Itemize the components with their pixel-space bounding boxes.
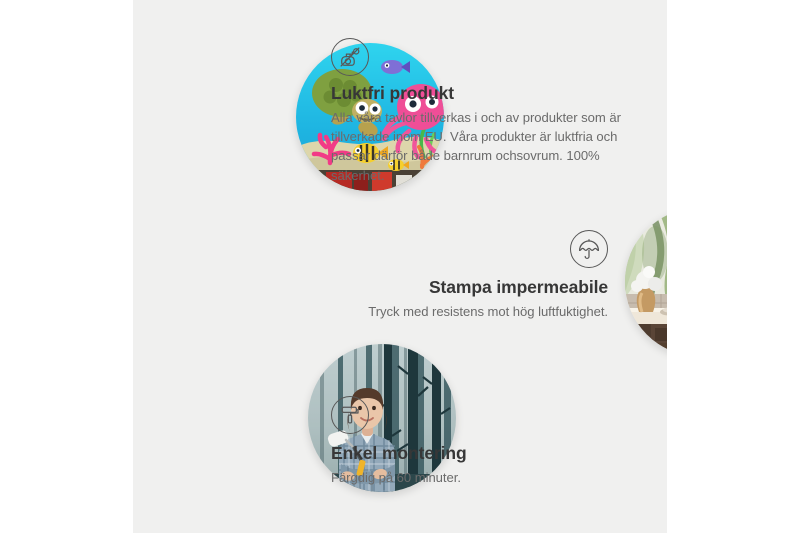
feature-title: Stampa impermeabile (323, 277, 608, 299)
umbrella-icon (570, 230, 608, 268)
feature-body: Tryck med resistens mot hög luftfuktighe… (323, 302, 608, 321)
icon-row (331, 396, 631, 434)
no-odor-spray-bottle-icon (331, 38, 369, 76)
content-panel: Luktfri produkt Alla våra tavlor tillver… (133, 0, 667, 533)
paint-roller-icon (331, 396, 369, 434)
feature-block-waterproof: Stampa impermeabile Tryck med resistens … (323, 230, 608, 321)
photo-bathroom-vanity (625, 208, 667, 356)
feature-body: Färgdig på 60 minuter. (331, 468, 631, 487)
feature-body: Alla våra tavlor tillverkas i och av pro… (331, 108, 636, 185)
promo-infographic: Luktfri produkt Alla våra tavlor tillver… (0, 0, 800, 533)
feature-title: Luktfri produkt (331, 83, 636, 105)
feature-block-odorless: Luktfri produkt Alla våra tavlor tillver… (331, 38, 636, 185)
icon-row (323, 230, 608, 268)
feature-title: Enkel montering (331, 443, 631, 465)
icon-row (331, 38, 636, 76)
feature-block-easy-installation: Enkel montering Färgdig på 60 minuter. (331, 396, 631, 487)
